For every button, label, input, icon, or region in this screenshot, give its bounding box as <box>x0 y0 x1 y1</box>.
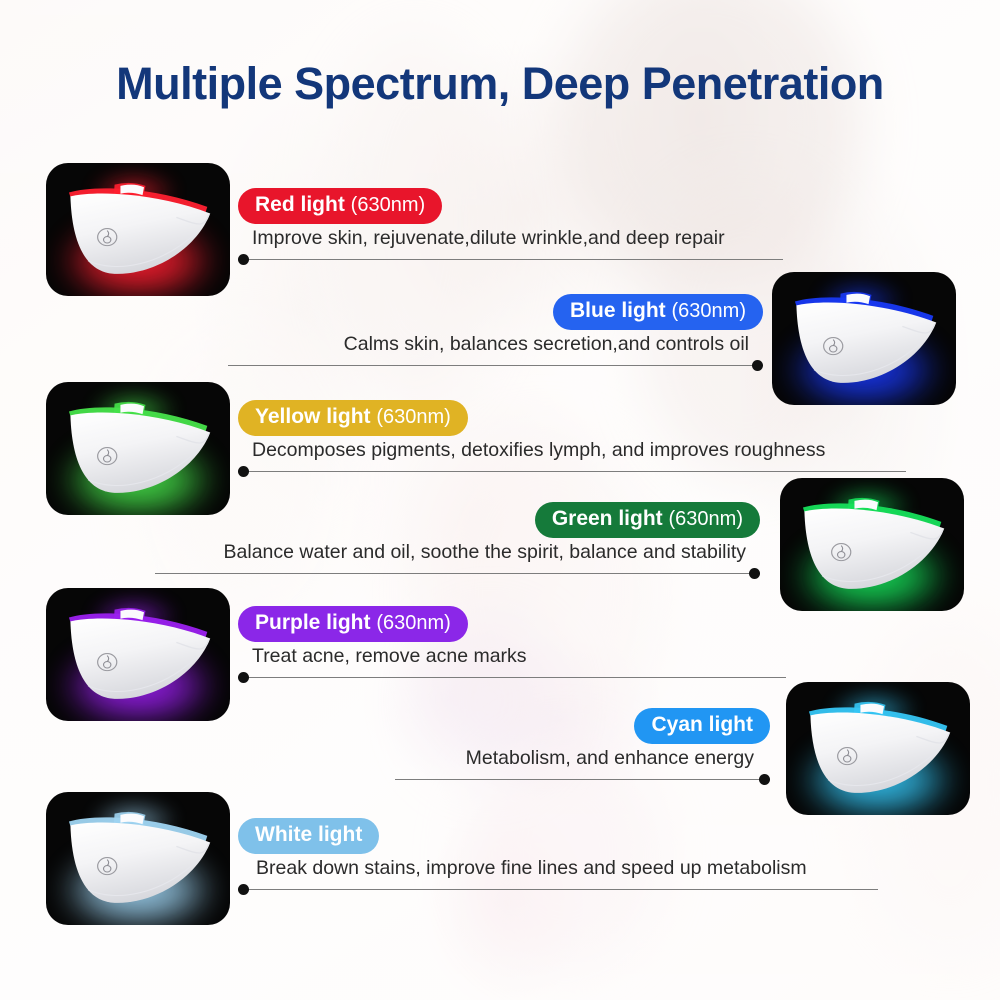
description-cyan: Metabolism, and enhance energy <box>395 747 770 770</box>
badge-purple-label: Purple light <box>255 611 371 634</box>
connector-blue <box>228 360 763 372</box>
badge-red-light: Red light (630nm) <box>238 188 442 224</box>
connector-cyan <box>395 774 770 786</box>
badge-yellow-light: Yellow light (630nm) <box>238 400 468 436</box>
device-thumbnail-blue <box>772 272 956 405</box>
device-thumbnail-purple <box>46 588 230 721</box>
badge-blue-label: Blue light <box>570 299 666 322</box>
connector-dot-yellow <box>238 466 249 477</box>
badge-green-label: Green light <box>552 507 663 530</box>
description-purple: Treat acne, remove acne marks <box>238 645 786 668</box>
badge-blue-light: Blue light (630nm) <box>553 294 763 330</box>
badge-red-wavelength: (630nm) <box>351 194 425 216</box>
description-green: Balance water and oil, soothe the spirit… <box>155 541 760 564</box>
page-title: Multiple Spectrum, Deep Penetration <box>0 58 1000 110</box>
badge-blue-wavelength: (630nm) <box>672 300 746 322</box>
device-thumbnail-white <box>46 792 230 925</box>
badge-white-label: White light <box>255 823 362 846</box>
connector-dot-purple <box>238 672 249 683</box>
connector-dot-white <box>238 884 249 895</box>
badge-yellow-wavelength: (630nm) <box>376 406 450 428</box>
badge-red-label: Red light <box>255 193 345 216</box>
connector-yellow <box>238 466 906 478</box>
connector-dot-green <box>749 568 760 579</box>
row-blue: Blue light (630nm) Calms skin, balances … <box>228 294 763 372</box>
connector-dot-blue <box>752 360 763 371</box>
badge-cyan-light: Cyan light <box>634 708 770 744</box>
badge-green-light: Green light (630nm) <box>535 502 760 538</box>
device-body-blue <box>792 291 939 389</box>
badge-cyan-label: Cyan light <box>651 713 753 736</box>
description-red: Improve skin, rejuvenate,dilute wrinkle,… <box>238 227 783 250</box>
device-body-purple <box>66 607 213 705</box>
badge-purple-light: Purple light (630nm) <box>238 606 468 642</box>
device-thumbnail-cyan <box>786 682 970 815</box>
connector-green <box>155 568 760 580</box>
badge-green-wavelength: (630nm) <box>669 508 743 530</box>
device-body-red <box>66 182 213 280</box>
row-cyan: Cyan light Metabolism, and enhance energ… <box>395 708 770 786</box>
row-purple: Purple light (630nm) Treat acne, remove … <box>238 606 786 684</box>
row-white: White light Break down stains, improve f… <box>238 818 878 896</box>
badge-purple-wavelength: (630nm) <box>376 612 450 634</box>
connector-red <box>238 254 783 266</box>
row-green: Green light (630nm) Balance water and oi… <box>155 502 760 580</box>
device-thumbnail-yellow <box>46 382 230 515</box>
badge-yellow-label: Yellow light <box>255 405 371 428</box>
device-body-yellow <box>66 401 213 499</box>
connector-purple <box>238 672 786 684</box>
connector-dot-cyan <box>759 774 770 785</box>
device-thumbnail-green <box>780 478 964 611</box>
device-body-green <box>800 497 947 595</box>
connector-dot-red <box>238 254 249 265</box>
connector-white <box>238 884 878 896</box>
description-white: Break down stains, improve fine lines an… <box>238 857 878 880</box>
description-yellow: Decomposes pigments, detoxifies lymph, a… <box>238 439 906 462</box>
description-blue: Calms skin, balances secretion,and contr… <box>228 333 763 356</box>
row-yellow: Yellow light (630nm) Decomposes pigments… <box>238 400 906 478</box>
device-body-white <box>66 811 213 909</box>
device-body-cyan <box>806 701 953 799</box>
row-red: Red light (630nm) Improve skin, rejuvena… <box>238 188 783 266</box>
badge-white-light: White light <box>238 818 379 854</box>
device-thumbnail-red <box>46 163 230 296</box>
